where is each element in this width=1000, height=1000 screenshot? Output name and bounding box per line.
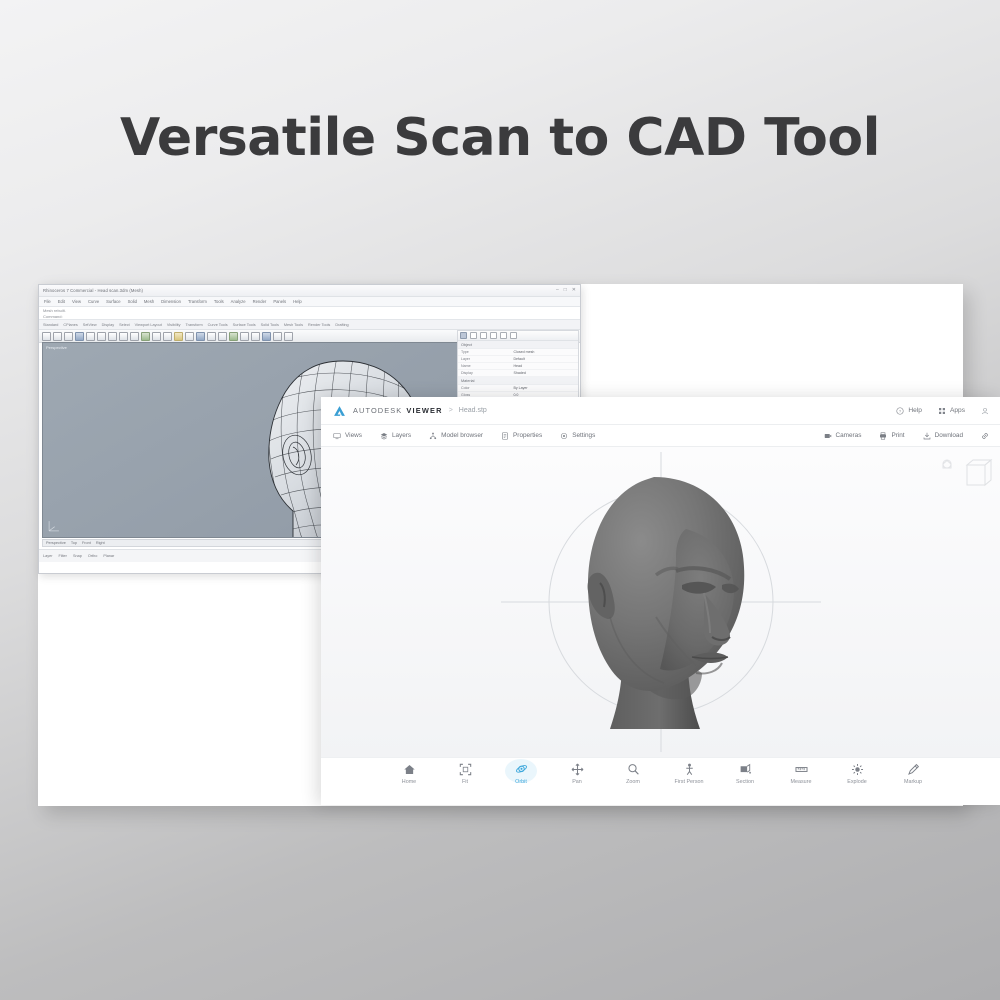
display-tab-icon[interactable] [480, 332, 487, 339]
cad-menu-item[interactable]: Surface [106, 299, 120, 304]
account-button[interactable] [981, 407, 989, 415]
model-browser-label: Model browser [441, 432, 483, 439]
tool-first-person[interactable]: First Person [661, 763, 717, 785]
property-row: Display Shaded [458, 370, 578, 377]
markup-icon [907, 763, 920, 776]
cad-tool-tab[interactable]: CPlanes [63, 323, 77, 327]
toolbar-print-button[interactable]: Print [879, 432, 904, 440]
cad-tool-tab[interactable]: Drafting [335, 323, 348, 327]
properties-tab-strip[interactable] [458, 331, 578, 341]
status-item[interactable]: Ortho [88, 554, 98, 558]
apps-label: Apps [950, 407, 965, 414]
tool-section[interactable]: Section [717, 763, 773, 785]
print-icon[interactable] [75, 332, 84, 341]
solid-tool-icon[interactable] [163, 332, 172, 341]
transform-tool-icon[interactable] [185, 332, 194, 341]
tool-orbit[interactable]: Orbit [493, 763, 549, 785]
cameras-label: Cameras [836, 432, 862, 439]
toolbar-model-browser-button[interactable]: Model browser [429, 432, 483, 440]
viewer-canvas[interactable] [321, 447, 1000, 757]
toolbar-download-button[interactable]: Download [923, 432, 963, 440]
cad-tool-tab[interactable]: Render Tools [308, 323, 330, 327]
property-value: By Layer [513, 386, 527, 390]
property-value: Shaded [513, 371, 525, 375]
display-mode-icon[interactable] [229, 332, 238, 341]
cameras-icon [824, 432, 832, 440]
status-item[interactable]: Snap [73, 554, 82, 558]
cad-window-title: Rhinoceros 7 Commercial - Head scan.3dm … [43, 288, 143, 293]
print-label: Print [891, 432, 904, 439]
cad-tool-tab[interactable]: Curve Tools [208, 323, 228, 327]
property-value: Closed mesh [513, 350, 534, 354]
share-link-icon [981, 432, 989, 440]
status-item[interactable]: Layer [43, 554, 53, 558]
breadcrumb-separator: > [449, 407, 453, 414]
cad-menu-item[interactable]: File [44, 299, 51, 304]
cad-menu-bar[interactable]: File Edit View Curve Surface Solid Mesh … [39, 297, 580, 307]
layer-tool-icon[interactable] [218, 332, 227, 341]
grid-snap-icon[interactable] [251, 332, 260, 341]
autodesk-logo-icon [333, 405, 346, 417]
cad-menu-item[interactable]: Panels [273, 299, 286, 304]
paste-icon[interactable] [108, 332, 117, 341]
maximize-icon[interactable]: □ [564, 288, 567, 293]
light-tab-icon[interactable] [500, 332, 507, 339]
account-icon [981, 407, 989, 415]
mesh-tool-icon[interactable] [174, 332, 183, 341]
toolbar-settings-button[interactable]: Settings [560, 432, 595, 440]
tool-zoom[interactable]: Zoom [605, 763, 661, 785]
tool-label: Home [402, 779, 416, 785]
svg-text:?: ? [899, 408, 902, 413]
viewport-tab[interactable]: Front [82, 541, 91, 545]
cad-tool-tab[interactable]: Viewport Layout [135, 323, 162, 327]
cad-tool-tab[interactable]: Mesh Tools [284, 323, 303, 327]
tool-fit[interactable]: Fit [437, 763, 493, 785]
toolbar-views-button[interactable]: Views [333, 432, 362, 440]
pan-icon [571, 763, 584, 776]
properties-icon [501, 432, 509, 440]
tool-label: Section [736, 779, 754, 785]
window-controls[interactable]: – □ ✕ [556, 288, 576, 293]
orbit-icon [515, 763, 528, 776]
explode-icon [851, 763, 864, 776]
redo-icon[interactable] [130, 332, 139, 341]
property-row: Type Closed mesh [458, 349, 578, 356]
viewport-tab[interactable]: Perspective [46, 541, 66, 545]
views-icon [333, 432, 341, 440]
command-area[interactable]: Mesh rebuilt. Command: [39, 307, 580, 320]
tool-label: Measure [791, 779, 812, 785]
print-icon [879, 432, 887, 440]
measure-icon [795, 763, 808, 776]
property-row: Layer Default [458, 356, 578, 363]
toolbar-share-button[interactable] [981, 432, 989, 440]
viewer-toolbar[interactable]: Views Layers [321, 425, 1000, 447]
close-icon[interactable]: ✕ [572, 288, 576, 293]
viewer-header-actions[interactable]: ? Help Apps [896, 407, 989, 415]
home-icon [403, 763, 416, 776]
page-title: Versatile Scan to CAD Tool [0, 108, 1000, 168]
download-icon [923, 432, 931, 440]
tool-pan[interactable]: Pan [549, 763, 605, 785]
cad-menu-item[interactable]: Edit [58, 299, 65, 304]
views-label: Views [345, 432, 362, 439]
cut-icon[interactable] [86, 332, 95, 341]
cad-tool-tab[interactable]: Visibility [167, 323, 181, 327]
cad-tool-tab[interactable]: Solid Tools [261, 323, 279, 327]
layers-icon [380, 432, 388, 440]
view-cube[interactable] [937, 455, 995, 507]
zoom-tool-icon[interactable] [240, 332, 249, 341]
analyze-tool-icon[interactable] [207, 332, 216, 341]
render-tab-icon[interactable] [510, 332, 517, 339]
cad-tool-tab[interactable]: Select [119, 323, 130, 327]
property-key: Layer [461, 357, 513, 361]
copy-icon[interactable] [97, 332, 106, 341]
minimize-icon[interactable]: – [556, 288, 559, 293]
fit-icon [459, 763, 472, 776]
cad-tool-tab[interactable]: Display [102, 323, 114, 327]
download-label: Download [935, 432, 963, 439]
help-button[interactable]: ? Help [896, 407, 922, 415]
tool-measure[interactable]: Measure [773, 763, 829, 785]
viewer-bottom-toolbar[interactable]: Home Fit Orbit [321, 757, 1000, 805]
apps-button[interactable]: Apps [938, 407, 965, 415]
viewport-axis-icon [47, 519, 61, 533]
property-key: Type [461, 350, 513, 354]
viewer-header: AUTODESK VIEWER > Head.stp ? Help [321, 397, 1000, 425]
tool-home[interactable]: Home [381, 763, 437, 785]
tool-explode[interactable]: Explode [829, 763, 885, 785]
model-browser-icon [429, 432, 437, 440]
cad-tool-tab[interactable]: Transform [186, 323, 203, 327]
section-icon [739, 763, 752, 776]
tool-markup[interactable]: Markup [885, 763, 941, 785]
cad-menu-item[interactable]: Solid [128, 299, 137, 304]
cad-menu-item[interactable]: Tools [214, 299, 224, 304]
property-key: Name [461, 364, 513, 368]
new-file-icon[interactable] [42, 332, 51, 341]
toolbar-layers-button[interactable]: Layers [380, 432, 411, 440]
property-row: Name Head [458, 363, 578, 370]
page-root: Versatile Scan to CAD Tool Rhinoceros 7 … [0, 0, 1000, 1000]
properties-section-object: Object [458, 341, 578, 349]
property-key: Color [461, 386, 513, 390]
brand-viewer: VIEWER [406, 406, 442, 415]
osnap-icon[interactable] [262, 332, 271, 341]
render-tool-icon[interactable] [196, 332, 205, 341]
apps-icon [938, 407, 946, 415]
curve-tool-icon[interactable] [141, 332, 150, 341]
toolbar-cameras-button[interactable]: Cameras [824, 432, 862, 440]
status-item[interactable]: Planar [103, 554, 114, 558]
cad-tool-tab[interactable]: Standard [43, 323, 58, 327]
cad-tool-tabs[interactable]: Standard CPlanes SetView Display Select … [39, 320, 580, 330]
cad-menu-item[interactable]: Dimension [161, 299, 181, 304]
screenshot-card: Rhinoceros 7 Commercial - Head scan.3dm … [38, 284, 963, 806]
command-prompt[interactable]: Command: [43, 314, 576, 320]
property-key: Display [461, 371, 513, 375]
tool-label: Orbit [515, 779, 527, 785]
properties-section-material: Material [458, 377, 578, 385]
tool-label: Fit [462, 779, 468, 785]
viewport-tab[interactable]: Top [71, 541, 77, 545]
property-value: Default [513, 357, 524, 361]
layers-tab-icon[interactable] [470, 332, 477, 339]
settings-icon [560, 432, 568, 440]
undo-icon[interactable] [119, 332, 128, 341]
autodesk-viewer-window[interactable]: AUTODESK VIEWER > Head.stp ? Help [321, 397, 1000, 805]
gumball-icon[interactable] [273, 332, 282, 341]
cad-menu-item[interactable]: View [72, 299, 81, 304]
help-label: Help [908, 407, 922, 414]
property-value: Head [513, 364, 522, 368]
zoom-icon [627, 763, 640, 776]
settings-label: Settings [572, 432, 595, 439]
property-row: Color By Layer [458, 385, 578, 392]
help-tool-icon[interactable] [284, 332, 293, 341]
layers-label: Layers [392, 432, 411, 439]
cad-menu-item[interactable]: Curve [88, 299, 99, 304]
tool-label: First Person [674, 779, 703, 785]
cad-menu-item[interactable]: Render [253, 299, 267, 304]
toolbar-properties-button[interactable]: Properties [501, 432, 542, 440]
cad-title-bar[interactable]: Rhinoceros 7 Commercial - Head scan.3dm … [39, 285, 580, 297]
brand-autodesk: AUTODESK [353, 406, 402, 415]
breadcrumb-file-name: Head.stp [459, 407, 487, 414]
viewer-toolbar-right[interactable]: Cameras Print [806, 432, 990, 440]
cad-menu-item[interactable]: Transform [188, 299, 207, 304]
save-icon[interactable] [64, 332, 73, 341]
tool-label: Pan [572, 779, 582, 785]
cad-menu-item[interactable]: Help [293, 299, 302, 304]
cad-menu-item[interactable]: Analyze [231, 299, 246, 304]
status-item[interactable]: Filter [59, 554, 67, 558]
cad-tool-tab[interactable]: SetView [83, 323, 97, 327]
viewport-tab[interactable]: Right [96, 541, 105, 545]
help-icon: ? [896, 407, 904, 415]
material-tab-icon[interactable] [490, 332, 497, 339]
open-file-icon[interactable] [53, 332, 62, 341]
tool-label: Markup [904, 779, 922, 785]
tool-label: Zoom [626, 779, 640, 785]
tool-label: Explode [847, 779, 866, 785]
properties-label: Properties [513, 432, 542, 439]
surface-tool-icon[interactable] [152, 332, 161, 341]
shaded-head-model[interactable] [536, 467, 786, 737]
properties-tab-icon[interactable] [460, 332, 467, 339]
cad-menu-item[interactable]: Mesh [144, 299, 154, 304]
first-person-icon [683, 763, 696, 776]
cad-tool-tab[interactable]: Surface Tools [233, 323, 256, 327]
